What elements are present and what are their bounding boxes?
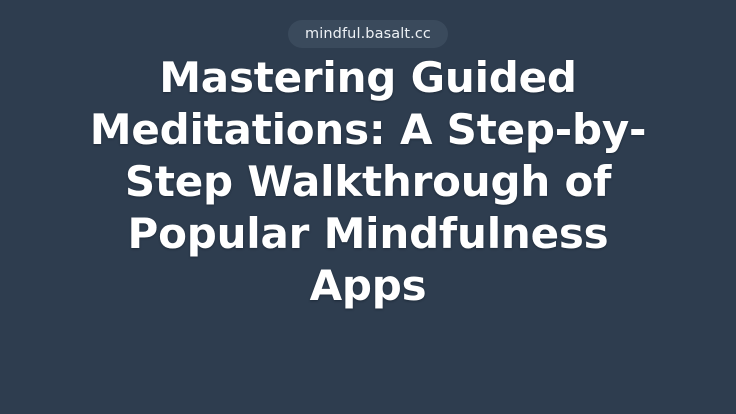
page-title: Mastering Guided Meditations: A Step-by-… bbox=[68, 52, 668, 312]
domain-badge: mindful.basalt.cc bbox=[288, 20, 448, 48]
og-share-card: mindful.basalt.cc Mastering Guided Medit… bbox=[0, 0, 736, 414]
domain-badge-label: mindful.basalt.cc bbox=[305, 27, 431, 42]
title-block: Mastering Guided Meditations: A Step-by-… bbox=[68, 52, 668, 312]
